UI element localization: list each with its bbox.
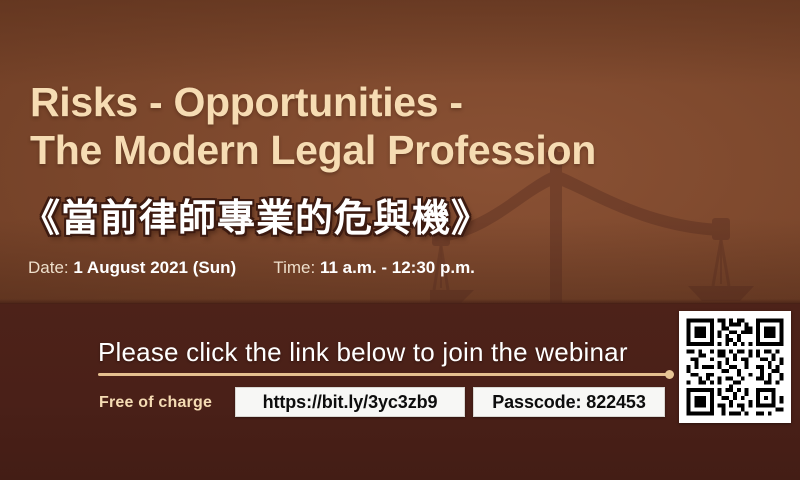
- free-of-charge-label: Free of charge: [99, 394, 212, 412]
- join-webinar-block: Please click the link below to join the …: [98, 336, 670, 376]
- webinar-poster: Risks - Opportunities - The Modern Legal…: [0, 0, 800, 480]
- passcode-chip: Passcode: 822453: [473, 387, 665, 417]
- time-value: 11 a.m. - 12:30 p.m.: [320, 258, 475, 277]
- underline-dot-icon: [665, 370, 674, 379]
- qr-code[interactable]: [679, 311, 791, 423]
- join-webinar-text: Please click the link below to join the …: [98, 336, 670, 368]
- time-label: Time:: [273, 258, 315, 277]
- date-time-line: Date: 1 August 2021 (Sun) Time: 11 a.m. …: [28, 257, 475, 279]
- accent-underline: [98, 373, 670, 376]
- date-value: 1 August 2021 (Sun): [73, 258, 236, 277]
- poster-chinese-title: 《當前律師專業的危與機》: [22, 196, 490, 240]
- poster-headline: Risks - Opportunities - The Modern Legal…: [30, 78, 775, 174]
- date-label: Date:: [28, 258, 69, 277]
- band-divider: [0, 299, 800, 304]
- webinar-link-chip[interactable]: https://bit.ly/3yc3zb9: [235, 387, 465, 417]
